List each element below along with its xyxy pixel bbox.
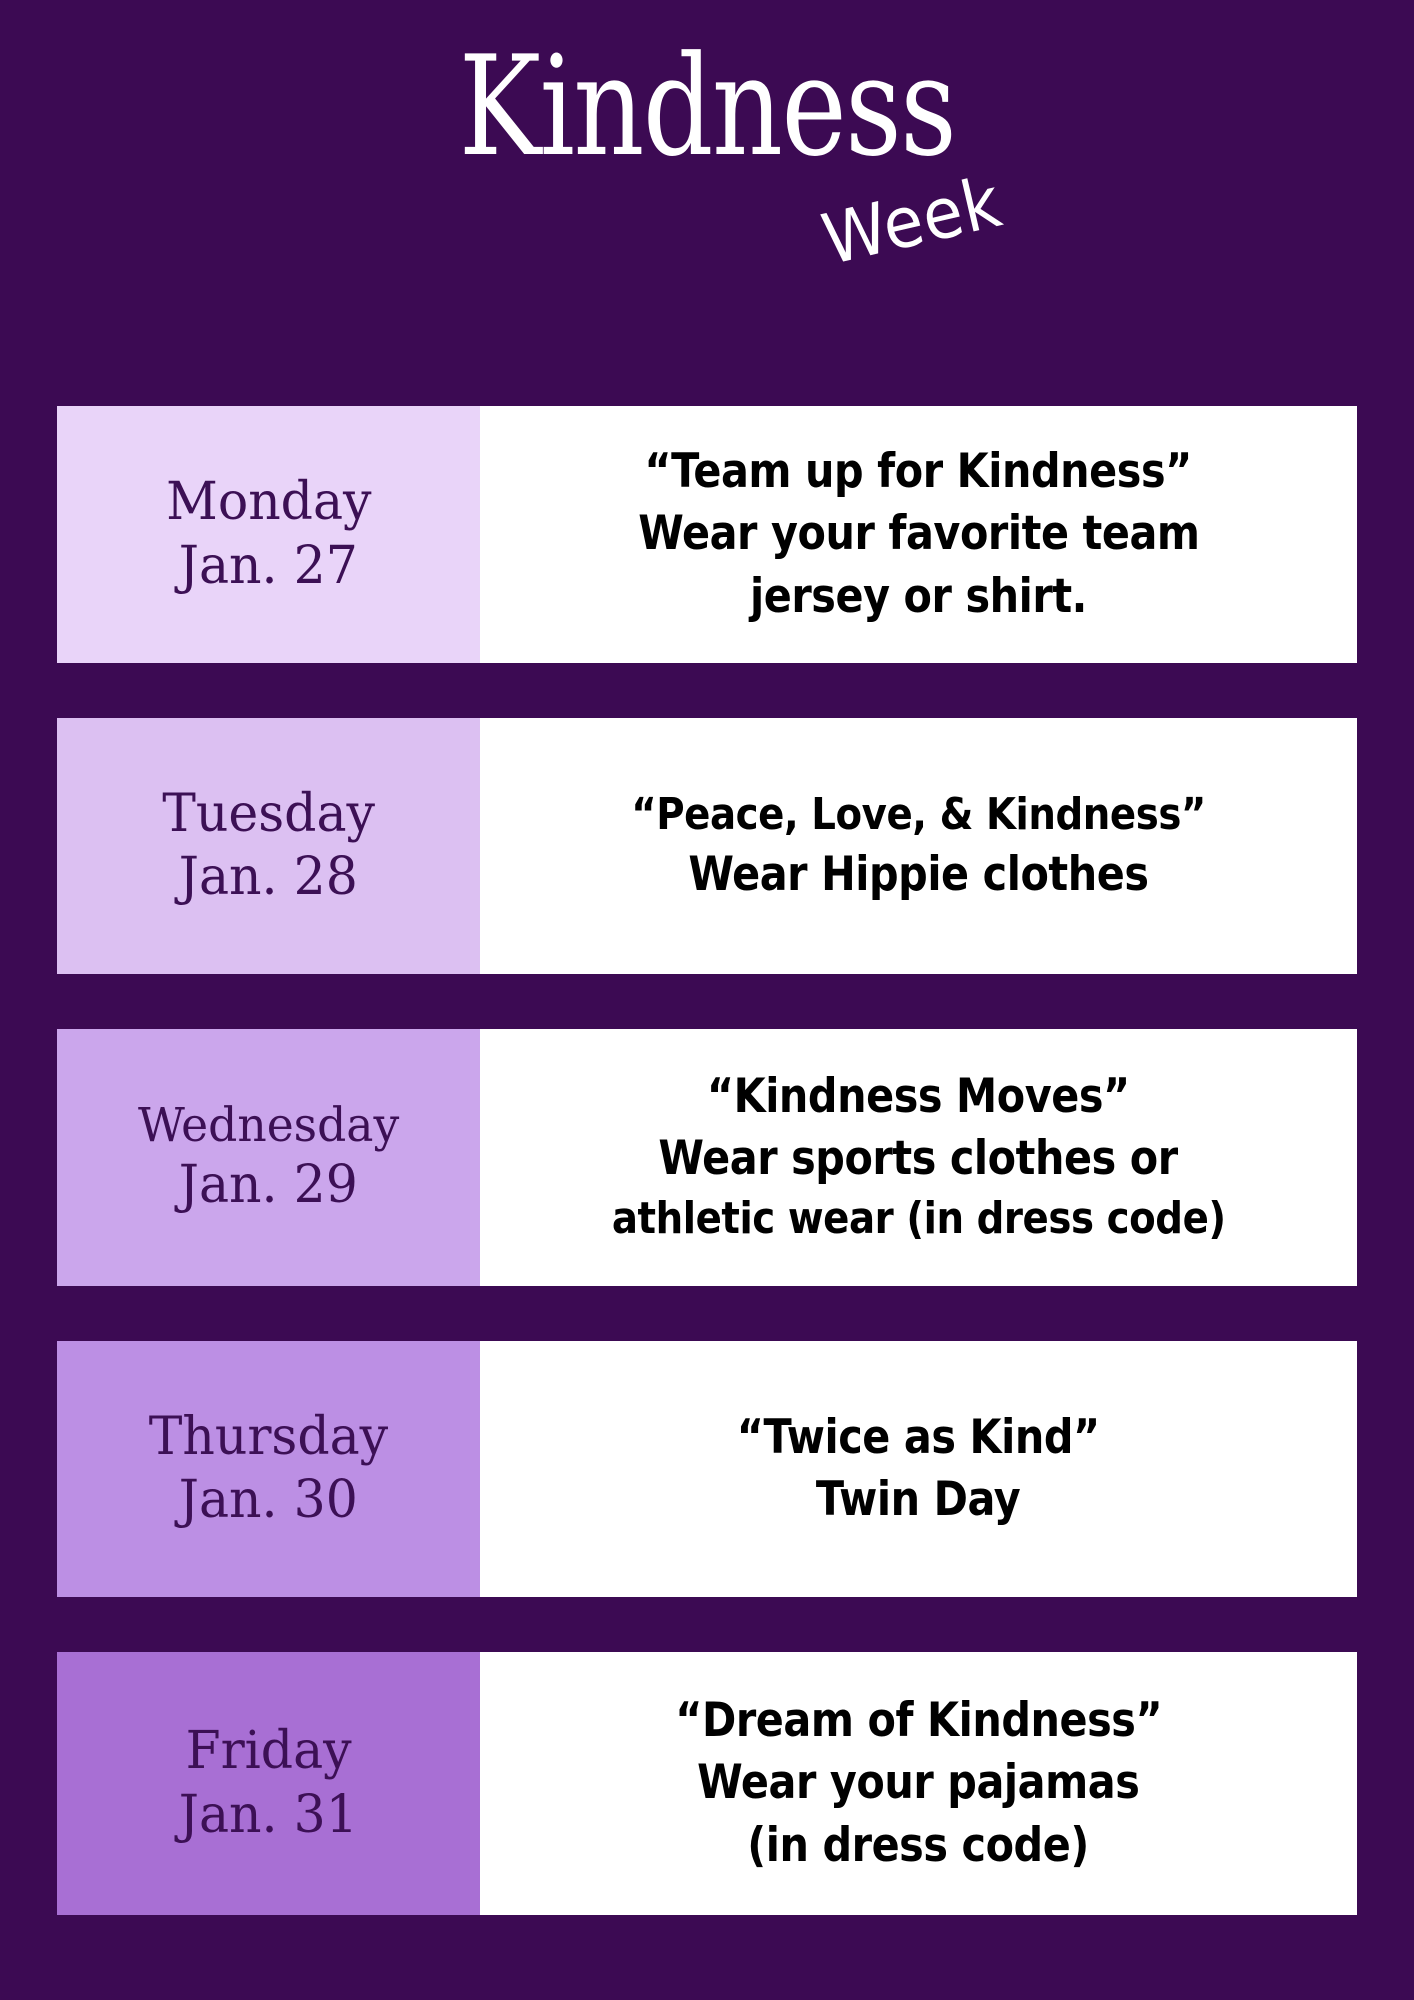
table-row: Thursday Jan. 30 “Twice as Kind” Twin Da… [57, 1341, 1357, 1597]
table-row: Monday Jan. 27 “Team up for Kindness” We… [57, 406, 1357, 663]
table-row: Friday Jan. 31 “Dream of Kindness” Wear … [57, 1652, 1357, 1915]
description-line: Wear sports clothes or [659, 1128, 1178, 1190]
day-cell-friday: Friday Jan. 31 [57, 1652, 480, 1915]
description-line: “Peace, Love, & Kindness” [631, 786, 1206, 844]
table-row: Wednesday Jan. 29 “Kindness Moves” Wear … [57, 1029, 1357, 1286]
description-cell-monday: “Team up for Kindness” Wear your favorit… [480, 406, 1357, 663]
description-line: Twin Day [816, 1469, 1020, 1531]
day-cell-tuesday: Tuesday Jan. 28 [57, 718, 480, 974]
page-title: Kindness [141, 38, 1272, 176]
day-name: Friday [185, 1720, 351, 1783]
day-date: Jan. 28 [179, 846, 358, 909]
day-name: Wednesday [138, 1097, 399, 1154]
description-line: “Kindness Moves” [707, 1066, 1130, 1128]
description-line: “Dream of Kindness” [675, 1690, 1162, 1752]
description-line: jersey or shirt. [750, 566, 1087, 628]
day-cell-thursday: Thursday Jan. 30 [57, 1341, 480, 1597]
day-date: Jan. 31 [179, 1784, 358, 1847]
day-cell-wednesday: Wednesday Jan. 29 [57, 1029, 480, 1286]
day-date: Jan. 30 [179, 1469, 358, 1532]
description-line: Wear your favorite team [638, 503, 1199, 565]
description-cell-friday: “Dream of Kindness” Wear your pajamas (i… [480, 1652, 1357, 1915]
day-date: Jan. 27 [179, 535, 358, 598]
table-row: Tuesday Jan. 28 “Peace, Love, & Kindness… [57, 718, 1357, 974]
day-name: Monday [166, 471, 371, 534]
day-cell-monday: Monday Jan. 27 [57, 406, 480, 663]
description-line: Wear your pajamas [697, 1752, 1139, 1814]
day-name: Tuesday [162, 783, 375, 846]
description-line: “Twice as Kind” [737, 1407, 1100, 1469]
description-cell-thursday: “Twice as Kind” Twin Day [480, 1341, 1357, 1597]
kindness-week-poster: Kindness Week Monday Jan. 27 “Team up fo… [0, 0, 1414, 2000]
description-cell-wednesday: “Kindness Moves” Wear sports clothes or … [480, 1029, 1357, 1286]
poster-header: Kindness Week [0, 0, 1414, 330]
schedule-table: Monday Jan. 27 “Team up for Kindness” We… [57, 406, 1357, 1915]
description-line: athletic wear (in dress code) [612, 1190, 1226, 1248]
description-line: “Team up for Kindness” [645, 441, 1193, 503]
description-line: (in dress code) [748, 1815, 1090, 1877]
day-date: Jan. 29 [179, 1154, 358, 1217]
description-cell-tuesday: “Peace, Love, & Kindness” Wear Hippie cl… [480, 718, 1357, 974]
description-line: Wear Hippie clothes [688, 844, 1148, 906]
day-name: Thursday [149, 1406, 388, 1469]
